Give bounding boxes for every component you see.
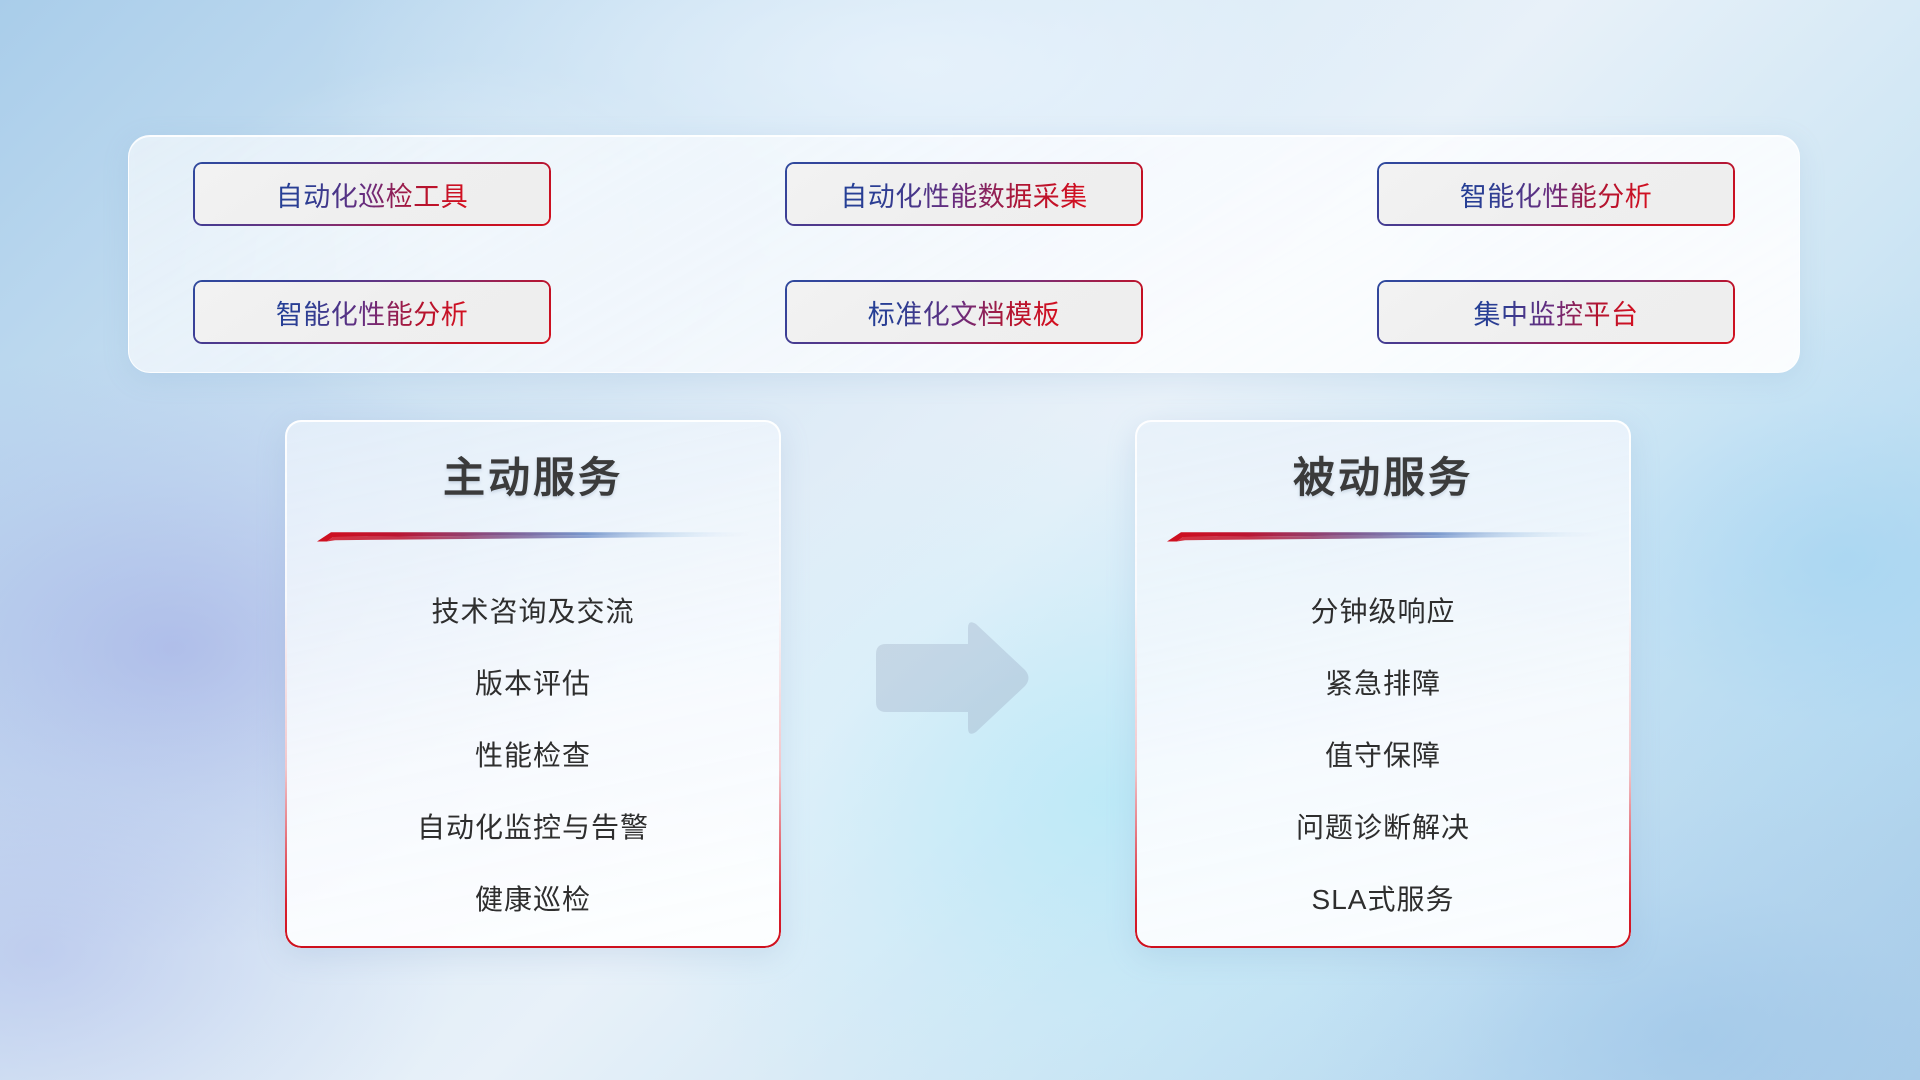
capability-tag-intelligent-performance-analysis[interactable]: 智能化性能分析 <box>1377 162 1735 226</box>
passive-service-card: 被动服务 分钟级响应 紧急排障 值守保障 问题诊断解决 SLA式服务 <box>1135 420 1631 948</box>
passive-service-item[interactable]: 紧急排障 <box>1135 646 1631 718</box>
capability-tag-label: 标准化文档模板 <box>868 293 1061 332</box>
capability-tag-label: 智能化性能分析 <box>1460 175 1653 214</box>
active-service-item[interactable]: 技术咨询及交流 <box>285 574 781 646</box>
passive-service-item[interactable]: 问题诊断解决 <box>1135 790 1631 862</box>
capability-tag-surface: 自动化性能数据采集 <box>787 164 1141 224</box>
divider-wedge-icon <box>317 531 749 542</box>
capability-row-2: 智能化性能分析 标准化文档模板 集中监控平台 <box>193 280 1735 344</box>
passive-service-divider <box>1167 529 1599 540</box>
capability-tag-label: 智能化性能分析 <box>276 293 469 332</box>
active-service-item[interactable]: 性能检查 <box>285 718 781 790</box>
capability-row-1: 自动化巡检工具 自动化性能数据采集 智能化性能分析 <box>193 162 1735 226</box>
passive-service-list: 分钟级响应 紧急排障 值守保障 问题诊断解决 SLA式服务 <box>1135 574 1631 934</box>
active-service-divider <box>317 529 749 540</box>
active-service-title: 主动服务 <box>285 444 781 505</box>
active-service-list: 技术咨询及交流 版本评估 性能检查 自动化监控与告警 健康巡检 <box>285 574 781 934</box>
capability-tag-surface: 自动化巡检工具 <box>195 164 549 224</box>
capability-tag-label: 集中监控平台 <box>1474 293 1639 332</box>
capability-tag-surface: 标准化文档模板 <box>787 282 1141 342</box>
capability-tag-standardized-document-template[interactable]: 标准化文档模板 <box>785 280 1143 344</box>
active-service-item[interactable]: 健康巡检 <box>285 862 781 934</box>
capability-tag-automated-inspection-tool[interactable]: 自动化巡检工具 <box>193 162 551 226</box>
passive-service-title: 被动服务 <box>1135 444 1631 505</box>
capability-tag-centralized-monitoring-platform[interactable]: 集中监控平台 <box>1377 280 1735 344</box>
active-service-item[interactable]: 版本评估 <box>285 646 781 718</box>
flow-arrow-right-icon <box>872 618 1032 738</box>
capability-tag-automated-performance-data-collection[interactable]: 自动化性能数据采集 <box>785 162 1143 226</box>
divider-wedge-icon <box>1167 531 1599 542</box>
active-service-item[interactable]: 自动化监控与告警 <box>285 790 781 862</box>
capability-tag-surface: 智能化性能分析 <box>1379 164 1733 224</box>
capability-tag-label: 自动化巡检工具 <box>276 175 469 214</box>
capability-tag-label: 自动化性能数据采集 <box>840 175 1088 214</box>
capability-tag-intelligent-performance-analysis-2[interactable]: 智能化性能分析 <box>193 280 551 344</box>
passive-service-item[interactable]: SLA式服务 <box>1135 862 1631 934</box>
passive-service-item[interactable]: 分钟级响应 <box>1135 574 1631 646</box>
capability-panel: 自动化巡检工具 自动化性能数据采集 智能化性能分析 智能化性能分析 标准化文档模… <box>128 135 1800 373</box>
capability-tag-surface: 集中监控平台 <box>1379 282 1733 342</box>
capability-tag-surface: 智能化性能分析 <box>195 282 549 342</box>
passive-service-item[interactable]: 值守保障 <box>1135 718 1631 790</box>
active-service-card: 主动服务 技术咨询及交流 版本评估 性能检查 自动化监控与告警 健康巡检 <box>285 420 781 948</box>
